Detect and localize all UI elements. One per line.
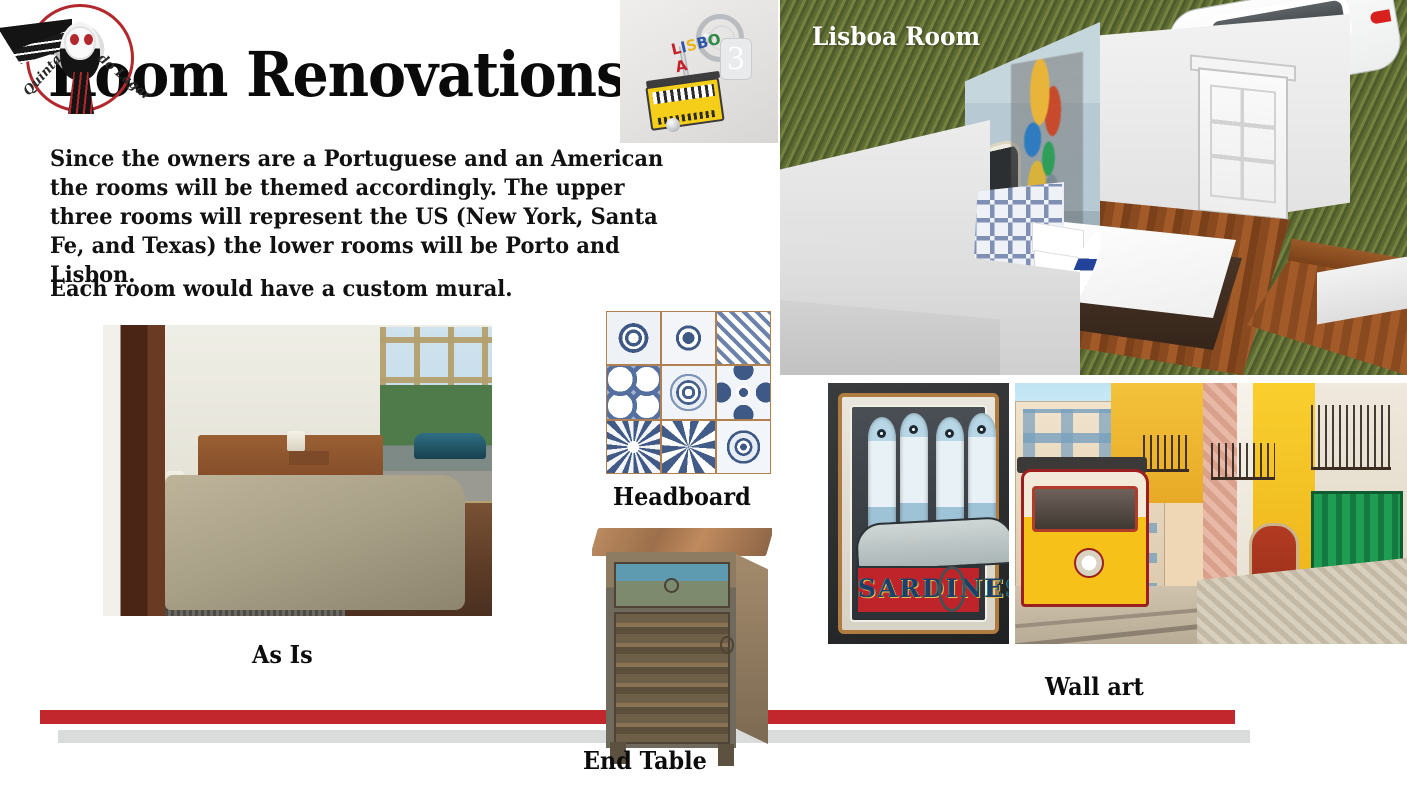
tile xyxy=(717,312,770,364)
tile xyxy=(662,421,715,473)
door-handle-icon xyxy=(720,636,734,654)
can-key-loop xyxy=(938,566,966,612)
car-taillight xyxy=(1370,9,1392,24)
bed-with-bedspread xyxy=(165,475,465,610)
nightstand xyxy=(289,451,329,465)
door-frame xyxy=(103,325,165,616)
logo-name-left: Quinta xyxy=(21,52,65,99)
balcony xyxy=(1211,443,1275,480)
lisbon-tram-street-photo xyxy=(1015,383,1407,644)
presentation-slide: Room Renovations Since the owners are a … xyxy=(0,0,1407,792)
tram-windshield xyxy=(1032,486,1138,532)
balcony xyxy=(1143,435,1189,472)
balcony xyxy=(1311,405,1391,470)
table-side-panel xyxy=(736,554,768,744)
table-lamp xyxy=(287,431,305,451)
end-table-photo xyxy=(592,528,772,766)
tile xyxy=(717,421,770,473)
room-door xyxy=(1198,67,1288,220)
sardine-can: SARDINES xyxy=(838,393,999,634)
tile xyxy=(662,312,715,364)
caption-wall-art: Wall art xyxy=(1045,672,1144,701)
can-interior: SARDINES xyxy=(850,405,987,622)
tile xyxy=(607,312,660,364)
can-lid xyxy=(855,516,1009,572)
lisboa-keychain-photo: LISBOA 3 xyxy=(620,0,778,143)
keychain-number-charm: 3 xyxy=(720,38,752,80)
as-is-bedroom-photo xyxy=(103,325,492,616)
sardines-wall-art: SARDINES xyxy=(828,383,1009,644)
caption-end-table: End Table xyxy=(583,746,707,775)
keychain-letter: A xyxy=(674,57,689,76)
room-label: Lisboa Room xyxy=(812,22,980,51)
tile xyxy=(662,366,715,418)
keychain-tram-icon xyxy=(645,77,724,131)
azulejo-tile-swatch xyxy=(606,311,771,474)
yellow-tram xyxy=(1021,469,1149,607)
logo-wordmark: Quinta do Lagar xyxy=(0,0,164,118)
caption-headboard: Headboard xyxy=(613,482,751,511)
tile xyxy=(607,421,660,473)
keychain-bead-lower xyxy=(666,118,680,132)
body-paragraph-1: Since the owners are a Portuguese and an… xyxy=(50,145,664,290)
louvered-door xyxy=(614,612,730,744)
tile xyxy=(717,366,770,418)
parked-car xyxy=(414,433,486,459)
logo-name-right: do Lagar xyxy=(95,51,154,104)
quinta-do-lagar-logo: Quinta do Lagar xyxy=(0,0,164,118)
lisboa-room-3d-render xyxy=(780,0,1407,375)
caption-as-is: As Is xyxy=(252,640,313,669)
table-leg xyxy=(718,744,734,766)
body-paragraph-2: Each room would have a custom mural. xyxy=(50,275,664,304)
drawer-knob-icon xyxy=(664,578,679,593)
tram-headlamp xyxy=(1074,548,1104,578)
tile xyxy=(607,366,660,418)
